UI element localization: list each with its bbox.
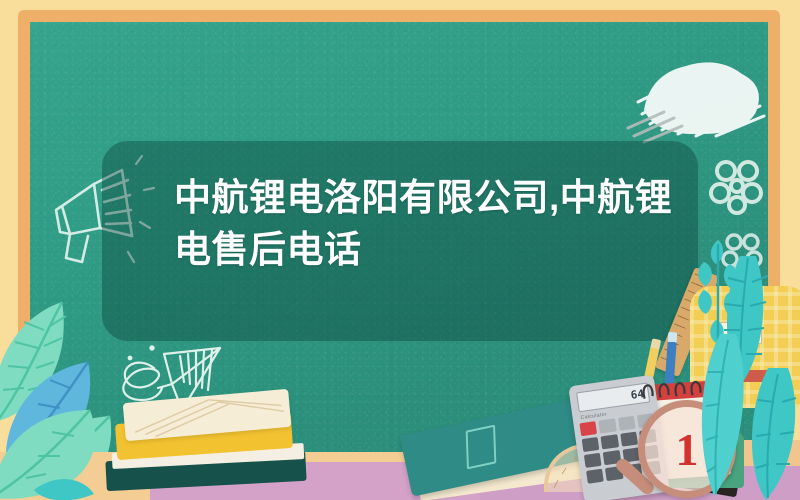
calculator-key-a[interactable]: [599, 418, 617, 433]
calculator-key-1[interactable]: [582, 437, 600, 452]
right-leaf-group: [694, 248, 800, 500]
calculator-key-2[interactable]: [601, 434, 619, 449]
bottom-left-leaf: [0, 398, 190, 500]
calculator-key-5[interactable]: [584, 453, 602, 468]
calculator-key-3[interactable]: [620, 432, 638, 447]
poster-canvas: 中航锂电洛阳有限公司,中航锂电售后电话 Float School: [0, 0, 800, 500]
calculator-key-b[interactable]: [618, 416, 636, 431]
calculator-key-9[interactable]: [586, 469, 604, 484]
book-teal-emblem: [466, 425, 497, 470]
calculator-key-ac[interactable]: [579, 421, 597, 436]
page-title: 中航锂电洛阳有限公司,中航锂电售后电话: [174, 172, 694, 276]
